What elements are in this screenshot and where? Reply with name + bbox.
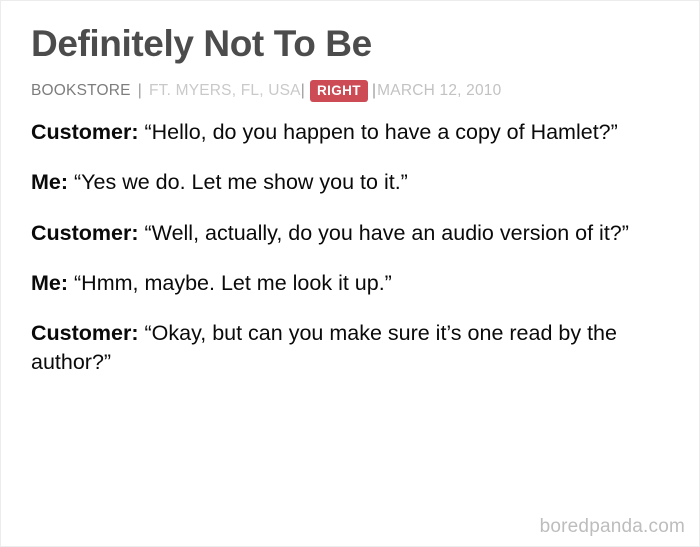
story-content: Definitely Not To Be BOOKSTORE | FT. MYE… (31, 23, 677, 376)
status-badge: RIGHT (310, 80, 368, 102)
dialogue-line: Me: “Hmm, maybe. Let me look it up.” (31, 269, 677, 297)
story-card: Definitely Not To Be BOOKSTORE | FT. MYE… (0, 0, 700, 547)
dialogue-speaker: Customer: (31, 321, 139, 345)
meta-location: FT. MYERS, FL, USA (149, 83, 301, 99)
dialogue-speaker: Me: (31, 271, 68, 295)
meta-separator-2: | (301, 83, 306, 99)
story-meta: BOOKSTORE | FT. MYERS, FL, USA | RIGHT |… (31, 80, 677, 102)
dialogue-speech: “Hello, do you happen to have a copy of … (145, 120, 618, 144)
dialogue-speaker: Customer: (31, 120, 139, 144)
dialogue-line: Customer: “Hello, do you happen to have … (31, 118, 677, 146)
dialogue-line: Customer: “Okay, but can you make sure i… (31, 319, 677, 376)
dialogue-line: Customer: “Well, actually, do you have a… (31, 219, 677, 247)
dialogue-speech: “Hmm, maybe. Let me look it up.” (74, 271, 392, 295)
dialogue-speech: “Well, actually, do you have an audio ve… (145, 221, 629, 245)
meta-date: MARCH 12, 2010 (377, 83, 501, 99)
dialogue-speech: “Yes we do. Let me show you to it.” (74, 170, 408, 194)
story-dialogue: Customer: “Hello, do you happen to have … (31, 118, 677, 376)
meta-separator-1: | (131, 83, 149, 99)
watermark: boredpanda.com (540, 517, 685, 536)
page-title: Definitely Not To Be (31, 23, 677, 64)
dialogue-speaker: Customer: (31, 221, 139, 245)
dialogue-speaker: Me: (31, 170, 68, 194)
dialogue-line: Me: “Yes we do. Let me show you to it.” (31, 168, 677, 196)
meta-category: BOOKSTORE (31, 83, 131, 99)
